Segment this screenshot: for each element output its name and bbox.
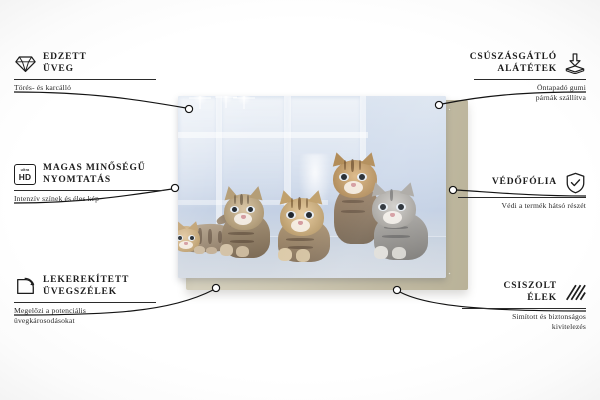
feature-title: EDZETTÜVEG <box>43 52 87 76</box>
arrow-press-pad-icon <box>564 53 586 75</box>
infographic-canvas: EDZETTÜVEG Törés- és karcálló ultra HD M… <box>0 0 600 400</box>
kitten-golden-center <box>274 188 334 260</box>
ultra-hd-badge-icon: ultra HD <box>14 164 36 186</box>
mounting-hole <box>448 272 451 275</box>
diagonal-lines-icon <box>564 282 586 304</box>
kitten-grey-right <box>368 182 430 260</box>
feature-title: MAGAS MINŐSÉGŰNYOMTATÁS <box>43 163 145 187</box>
divider <box>462 308 586 309</box>
divider <box>14 79 156 80</box>
feature-vedofolia: VÉDŐFÓLIA Védi a termék hátsó részét <box>434 172 586 211</box>
mounting-hole <box>448 108 451 111</box>
feature-description: Öntapadó gumipárnák szállítva <box>434 83 586 103</box>
shield-check-icon <box>564 172 586 194</box>
feature-description: Simított és biztonságoskivitelezés <box>434 312 586 332</box>
feature-lekerekitett-uvegszelek: LEKEREKÍTETTÜVEGSZÉLEK Megelőzi a potenc… <box>14 275 166 326</box>
feature-description: Védi a termék hátsó részét <box>434 201 586 211</box>
product-assembly <box>178 96 468 292</box>
feature-csuszasgatlo-alatetek: CSÚSZÁSGÁTLÓALÁTÉTEK Öntapadó gumipárnák… <box>434 52 586 103</box>
feature-description: Törés- és karcálló <box>14 83 166 93</box>
feature-edzett-uveg: EDZETTÜVEG Törés- és karcálló <box>14 52 166 93</box>
diamond-icon <box>14 53 36 75</box>
divider <box>458 197 586 198</box>
printed-glass-panel <box>178 96 446 278</box>
rounded-corner-icon <box>14 276 36 298</box>
feature-description: Intenzív színek és éles kép <box>14 194 166 204</box>
feature-title: CSISZOLTÉLEK <box>504 281 557 305</box>
kitten-brown-tabby <box>218 184 274 258</box>
leader-line-edzett-uveg <box>14 92 186 108</box>
divider <box>474 79 586 80</box>
feature-title: LEKEREKÍTETTÜVEGSZÉLEK <box>43 275 129 299</box>
feature-csiszolt-elek: CSISZOLTÉLEK Simított és biztonságoskivi… <box>434 281 586 332</box>
feature-title: CSÚSZÁSGÁTLÓALÁTÉTEK <box>470 52 557 76</box>
divider <box>14 302 156 303</box>
feature-magas-minosegu-nyomtatas: ultra HD MAGAS MINŐSÉGŰNYOMTATÁS Intenzí… <box>14 163 166 204</box>
feature-title: VÉDŐFÓLIA <box>492 177 557 189</box>
divider <box>14 190 164 191</box>
hd-label: HD <box>19 173 32 181</box>
feature-description: Megelőzi a potenciálisüvegkárosodásokat <box>14 306 166 326</box>
